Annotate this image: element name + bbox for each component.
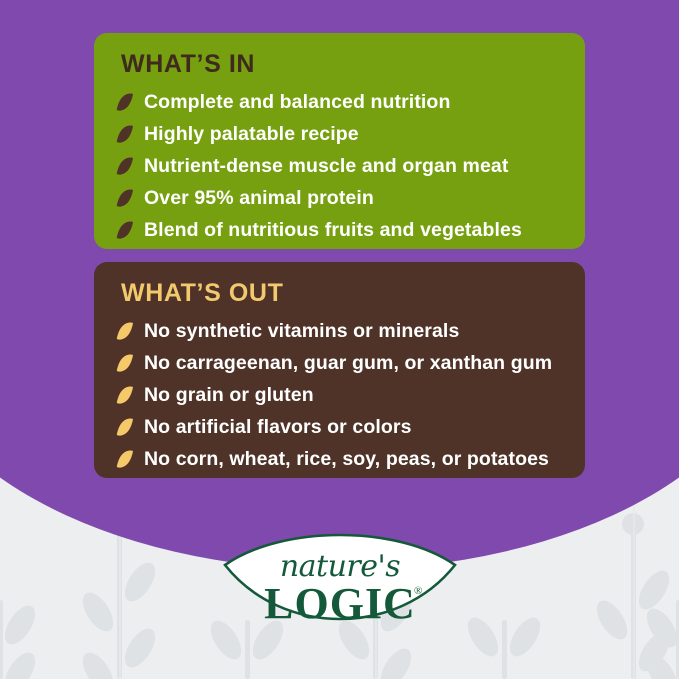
list-item: No synthetic vitamins or minerals [114, 316, 565, 346]
leaf-icon [114, 91, 136, 113]
list-item-label: No corn, wheat, rice, soy, peas, or pota… [144, 448, 549, 470]
list-item-label: Highly palatable recipe [144, 123, 359, 145]
panel-whats-out-title: WHAT’S OUT [121, 280, 565, 306]
list-item-label: No artificial flavors or colors [144, 416, 412, 438]
list-item: No corn, wheat, rice, soy, peas, or pota… [114, 444, 565, 474]
leaf-icon [114, 384, 136, 406]
list-item-label: No grain or gluten [144, 384, 314, 406]
leaf-icon [114, 448, 136, 470]
list-item-label: Over 95% animal protein [144, 187, 374, 209]
leaf-icon [114, 123, 136, 145]
brand-logo: nature's LOGIC ® [222, 531, 458, 639]
registered-trademark-icon: ® [414, 585, 422, 597]
leaf-icon [114, 352, 136, 374]
list-item-label: Complete and balanced nutrition [144, 91, 450, 113]
panel-whats-out-list: No synthetic vitamins or minerals No car… [114, 316, 565, 474]
panel-whats-in: WHAT’S IN Complete and balanced nutritio… [94, 33, 585, 249]
list-item: Blend of nutritious fruits and vegetable… [114, 215, 565, 245]
list-item: No grain or gluten [114, 380, 565, 410]
list-item: Highly palatable recipe [114, 119, 565, 149]
list-item-label: Nutrient-dense muscle and organ meat [144, 155, 508, 177]
list-item-label: Blend of nutritious fruits and vegetable… [144, 219, 522, 241]
leaf-icon [114, 187, 136, 209]
panel-whats-in-title: WHAT’S IN [121, 51, 565, 77]
list-item: No carrageenan, guar gum, or xanthan gum [114, 348, 565, 378]
leaf-icon [114, 219, 136, 241]
leaf-icon [114, 320, 136, 342]
list-item: Over 95% animal protein [114, 183, 565, 213]
logo-wordmark-text: LOGIC [222, 578, 458, 629]
list-item-label: No carrageenan, guar gum, or xanthan gum [144, 352, 552, 374]
list-item: Complete and balanced nutrition [114, 87, 565, 117]
leaf-icon [114, 155, 136, 177]
list-item: No artificial flavors or colors [114, 412, 565, 442]
panel-whats-in-list: Complete and balanced nutrition Highly p… [114, 87, 565, 245]
list-item-label: No synthetic vitamins or minerals [144, 320, 459, 342]
list-item: Nutrient-dense muscle and organ meat [114, 151, 565, 181]
product-feature-graphic: WHAT’S IN Complete and balanced nutritio… [0, 0, 679, 679]
panel-whats-out: WHAT’S OUT No synthetic vitamins or mine… [94, 262, 585, 478]
leaf-icon [114, 416, 136, 438]
